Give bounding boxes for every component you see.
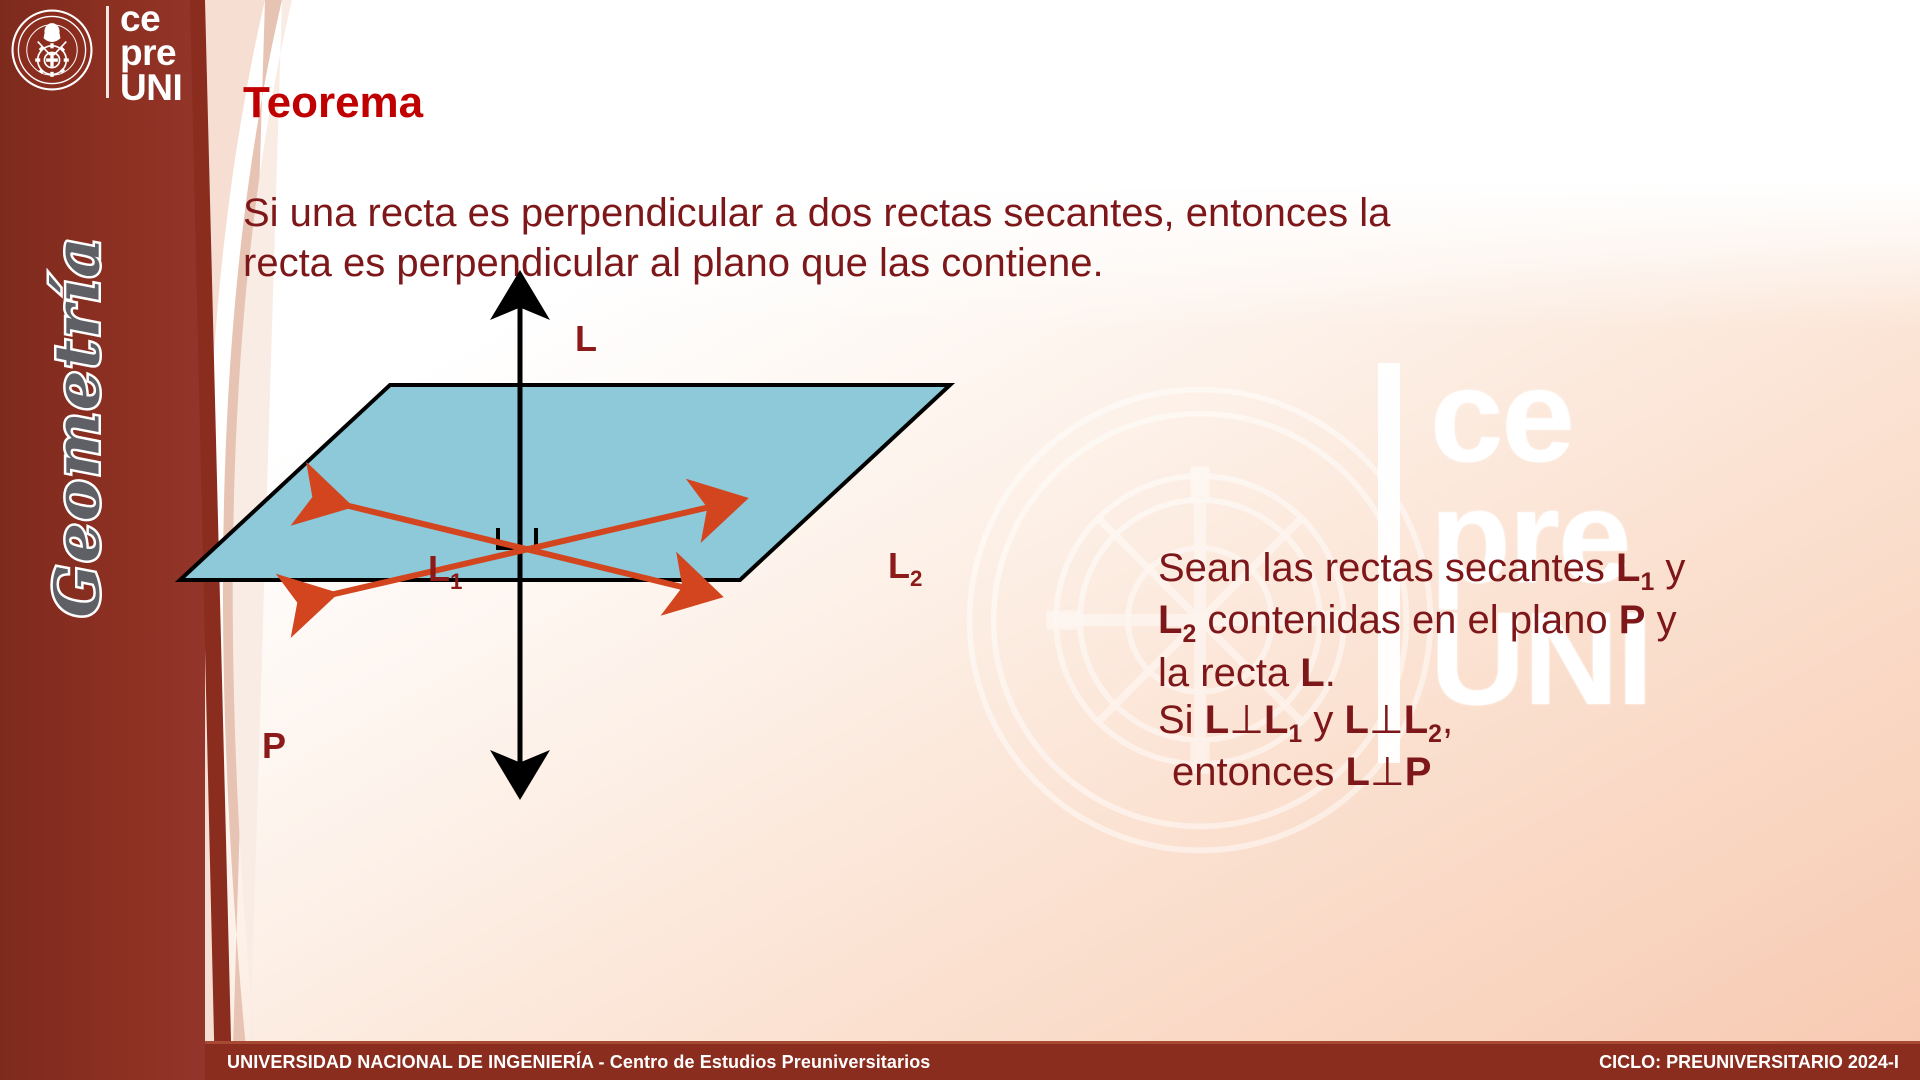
theorem-statement-line1: Si una recta es perpendicular a dos rect… <box>243 191 1390 235</box>
explanation-line-4: Si L⊥L1 y L⊥L2, <box>1158 697 1878 749</box>
diagram-label-L1: L1 <box>428 548 462 595</box>
diagram-label-P: P <box>262 725 286 767</box>
explanation-l4-tail: , <box>1442 698 1453 742</box>
explanation-l2-P: P <box>1619 598 1646 642</box>
explanation-l3-L: L <box>1300 651 1324 695</box>
perpendicular-icon-3: ⊥ <box>1370 749 1405 795</box>
uni-seal-icon <box>10 8 94 92</box>
explanation-l1-tail: y <box>1654 546 1685 590</box>
geometry-diagram <box>180 300 1000 860</box>
explanation-l4-L2: L <box>1344 698 1368 742</box>
explanation-l5-P: P <box>1405 750 1432 794</box>
explanation-l2-tail: y <box>1645 598 1676 642</box>
theorem-statement-line2: recta es perpendicular al plano que las … <box>243 238 1825 288</box>
brand-divider <box>106 6 109 98</box>
explanation-l5-pre: entonces <box>1172 750 1345 794</box>
diagram-label-L2-letter: L <box>888 545 910 586</box>
explanation-l2-L: L <box>1158 598 1182 642</box>
explanation-l1-L: L <box>1616 546 1640 590</box>
diagram-label-L1-sub: 1 <box>450 569 462 594</box>
brand-line-ce: ce <box>120 2 182 36</box>
explanation-l4-L: L <box>1205 698 1229 742</box>
explanation-l2-sub: 2 <box>1182 621 1196 648</box>
explanation-l3-tail: . <box>1325 651 1336 695</box>
slide-root: ce pre UNI <box>0 0 1920 1080</box>
theorem-statement: Si una recta es perpendicular a dos rect… <box>243 188 1825 289</box>
explanation-block: Sean las rectas secantes L1 y L2 conteni… <box>1158 545 1878 796</box>
sidebar-subject-geometria: Geometría <box>41 232 114 622</box>
explanation-l5-L: L <box>1345 750 1369 794</box>
brand-line-pre: pre <box>120 36 182 70</box>
explanation-l4-Ld-sub: 2 <box>1428 721 1442 748</box>
brand-cepreuni: ce pre UNI <box>120 2 182 105</box>
footer-bar: UNIVERSIDAD NACIONAL DE INGENIERÍA - Cen… <box>0 1044 1920 1080</box>
diagram-label-L: L <box>575 318 597 360</box>
explanation-l1-sub: 1 <box>1640 569 1654 596</box>
footer-cycle-label: CICLO: PREUNIVERSITARIO 2024-I <box>1578 1044 1920 1080</box>
perpendicular-icon-2: ⊥ <box>1369 697 1404 743</box>
explanation-l4-L1: L <box>1264 698 1288 742</box>
explanation-line-2: L2 contenidas en el plano P y <box>1158 597 1878 649</box>
explanation-l2-mid: contenidas en el plano <box>1196 598 1619 642</box>
explanation-l3-text: la recta <box>1158 651 1300 695</box>
explanation-line-3: la recta L. <box>1158 650 1878 697</box>
diagram-label-L2-sub: 2 <box>910 566 922 591</box>
plane-parallelogram <box>180 385 950 580</box>
brand-line-uni: UNI <box>120 71 182 105</box>
perpendicular-icon-1: ⊥ <box>1229 697 1264 743</box>
footer-university-label: UNIVERSIDAD NACIONAL DE INGENIERÍA - Cen… <box>205 1044 1578 1080</box>
diagram-label-L1-letter: L <box>428 548 450 589</box>
explanation-l4-pre: Si <box>1158 698 1205 742</box>
page-title: Teorema <box>243 78 423 128</box>
explanation-l4-L1-sub: 1 <box>1288 721 1302 748</box>
explanation-l4-y: y <box>1302 698 1344 742</box>
explanation-l4-Ld: L <box>1404 698 1428 742</box>
explanation-line-5: entonces L⊥P <box>1158 749 1878 796</box>
diagram-label-L2: L2 <box>888 545 922 592</box>
explanation-line-1: Sean las rectas secantes L1 y <box>1158 545 1878 597</box>
watermark-ce: ce <box>1430 355 1900 476</box>
explanation-l1-text: Sean las rectas secantes <box>1158 546 1616 590</box>
